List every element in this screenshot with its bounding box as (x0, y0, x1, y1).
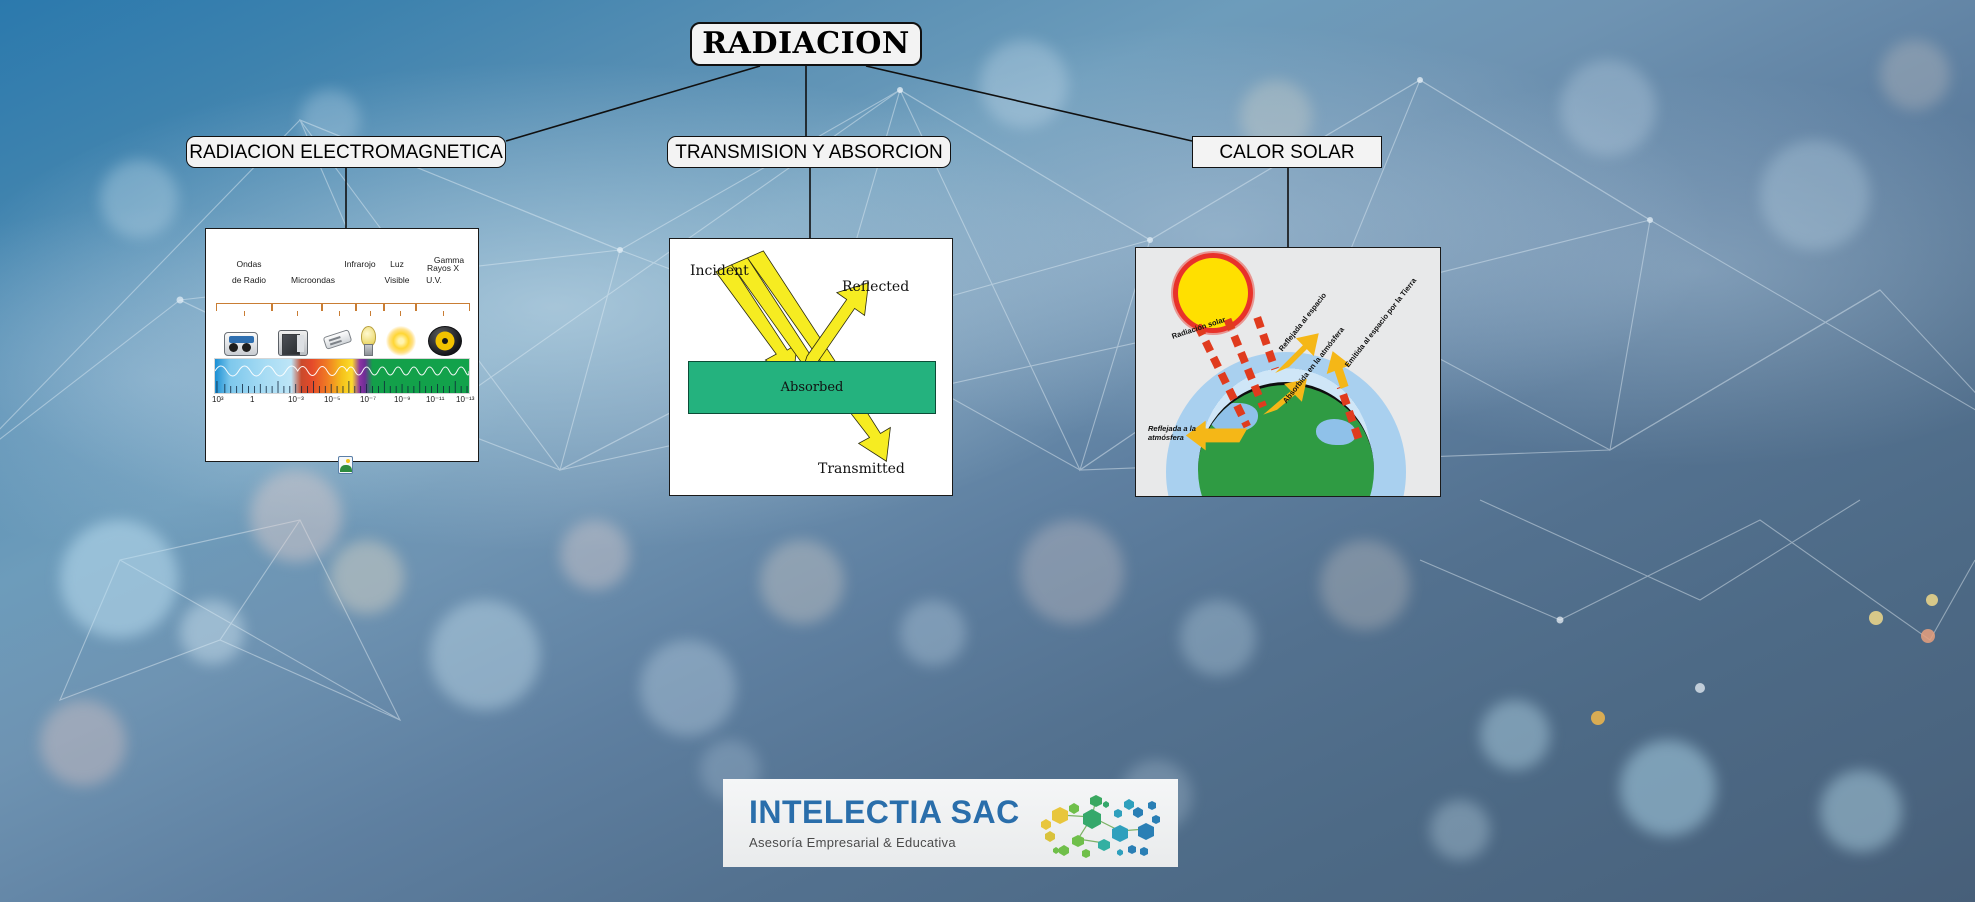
band-label-visible: Visible (366, 275, 428, 285)
node-radiacion-electromagnetica[interactable]: RADIACION ELECTROMAGNETICA (186, 136, 506, 168)
radioactive-icon (428, 326, 462, 356)
root-node[interactable]: RADIACION (690, 22, 922, 66)
label-reflejada-atmosfera: Reflejada a la atmósfera (1148, 424, 1232, 442)
label-incident: Incident (690, 263, 749, 279)
spectrum-diagram: Ondas de Radio Microondas Infrarojo Luz … (214, 259, 470, 411)
scale-tick-5: 10⁻⁹ (394, 395, 411, 404)
scale-tick-2: 10⁻³ (288, 395, 304, 404)
scale-tick-0: 10³ (212, 395, 224, 404)
logo-network-mark (1034, 787, 1164, 859)
band-label-ondas: Ondas (222, 259, 276, 269)
band-label-gamma: Gamma (428, 255, 470, 265)
sun-icon (386, 326, 416, 356)
microwave-icon (278, 330, 308, 356)
label-absorbed: Absorbed (689, 380, 935, 395)
spectrum-color-bar (214, 358, 470, 394)
absorbing-slab: Absorbed (688, 361, 936, 414)
scale-tick-1: 1 (250, 395, 254, 404)
band-label-microondas: Microondas (278, 275, 348, 285)
radio-icon (224, 332, 258, 356)
lightbulb-icon (360, 326, 375, 356)
band-label-infrarojo: Infrarojo (334, 259, 386, 269)
logo-tagline-text: Asesoría Empresarial & Educativa (749, 835, 1020, 850)
spectrum-icons (214, 316, 470, 356)
mindmap: RADIACION RADIACION ELECTROMAGNETICA TRA… (0, 0, 1975, 902)
band-label-luz: Luz (384, 259, 410, 269)
band-label-uv: U.V. (420, 275, 448, 285)
scale-tick-4: 10⁻⁷ (360, 395, 376, 404)
panel-transmision-absorcion[interactable]: Absorbed Incident Reflected Transmitted (669, 238, 953, 496)
spectrum-band-labels: Ondas de Radio Microondas Infrarojo Luz … (214, 259, 470, 301)
spectrum-brackets (214, 303, 470, 314)
label-reflected: Reflected (842, 279, 909, 295)
logo-brand-text: INTELECTIA SAC (749, 796, 1020, 830)
panel-calor-solar[interactable]: Radiación solar Reflejada al espacio Abs… (1135, 247, 1441, 497)
spectrum-scale-ticks: 10³ 1 10⁻³ 10⁻⁵ 10⁻⁷ 10⁻⁹ 10⁻¹¹ 10⁻¹³ (214, 395, 470, 411)
scale-tick-6: 10⁻¹¹ (426, 395, 444, 404)
remote-control-icon (323, 329, 353, 350)
solar-arrows (1136, 248, 1440, 496)
node-transmision-y-absorcion[interactable]: TRANSMISION Y ABSORCION (667, 136, 951, 168)
band-label-de-radio: de Radio (214, 275, 284, 285)
panel-electromagnetic-spectrum[interactable]: Ondas de Radio Microondas Infrarojo Luz … (205, 228, 479, 462)
label-transmitted: Transmitted (818, 461, 905, 477)
broken-image-icon[interactable] (338, 456, 353, 474)
slide-canvas: RADIACION RADIACION ELECTROMAGNETICA TRA… (0, 0, 1975, 902)
scale-tick-7: 10⁻¹³ (456, 395, 474, 404)
scale-tick-3: 10⁻⁵ (324, 395, 340, 404)
node-calor-solar[interactable]: CALOR SOLAR (1192, 136, 1382, 168)
logo-intelectia-sac[interactable]: INTELECTIA SAC Asesoría Empresarial & Ed… (723, 779, 1178, 867)
